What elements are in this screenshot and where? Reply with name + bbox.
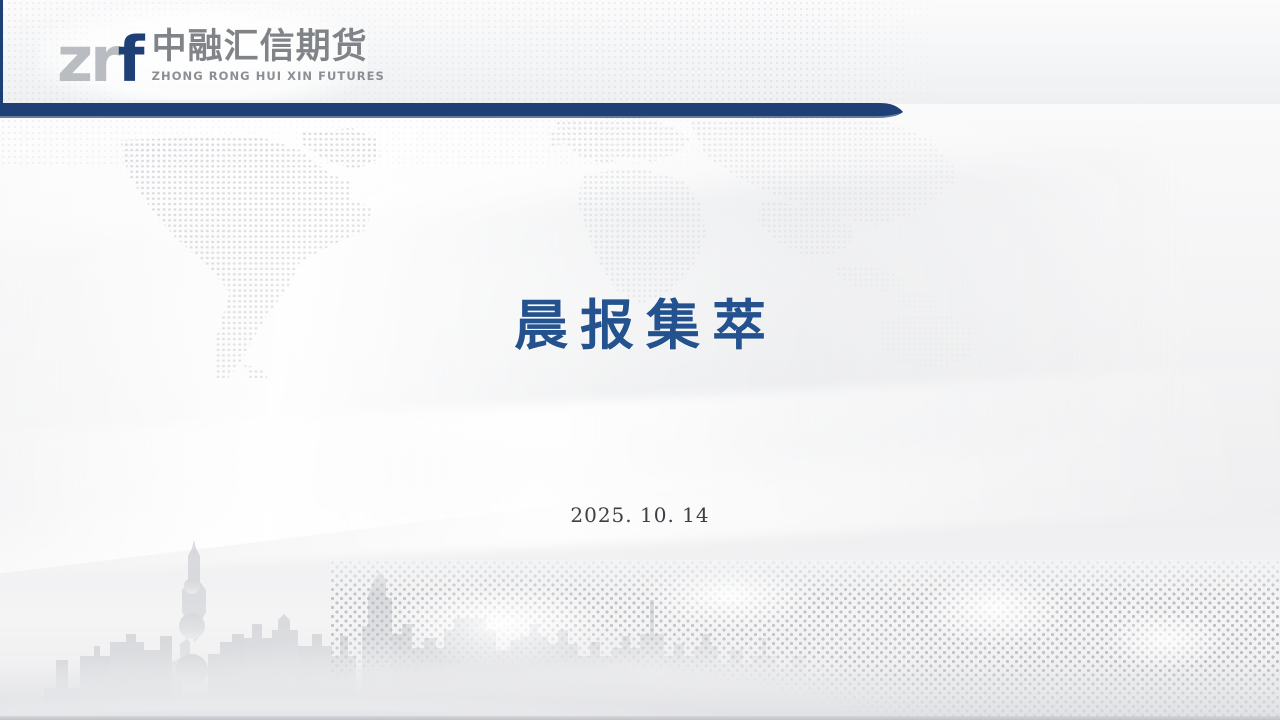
bottom-tint bbox=[0, 662, 1280, 720]
header-accent-bar bbox=[0, 103, 905, 117]
left-accent-rule bbox=[0, 0, 3, 118]
logo-mark-f: f bbox=[118, 23, 142, 96]
presentation-slide: zrf 中融汇信期货 ZHONG RONG HUI XIN FUTURES bbox=[0, 0, 1280, 720]
company-logo: zrf 中融汇信期货 ZHONG RONG HUI XIN FUTURES bbox=[57, 30, 385, 86]
bottom-edge-line bbox=[0, 716, 1280, 720]
report-date: 2025. 10. 14 bbox=[0, 503, 1280, 527]
logo-company-name-en: ZHONG RONG HUI XIN FUTURES bbox=[152, 69, 385, 83]
logo-company-name-cn: 中融汇信期货 bbox=[152, 30, 368, 65]
sub-header-dot-texture bbox=[0, 118, 922, 164]
logo-wordmark: 中融汇信期货 ZHONG RONG HUI XIN FUTURES bbox=[152, 30, 385, 86]
page-title: 晨报集萃 bbox=[0, 281, 1280, 360]
logo-mark-zr: zr bbox=[57, 23, 118, 96]
logo-mark-zrf: zrf bbox=[57, 35, 142, 86]
